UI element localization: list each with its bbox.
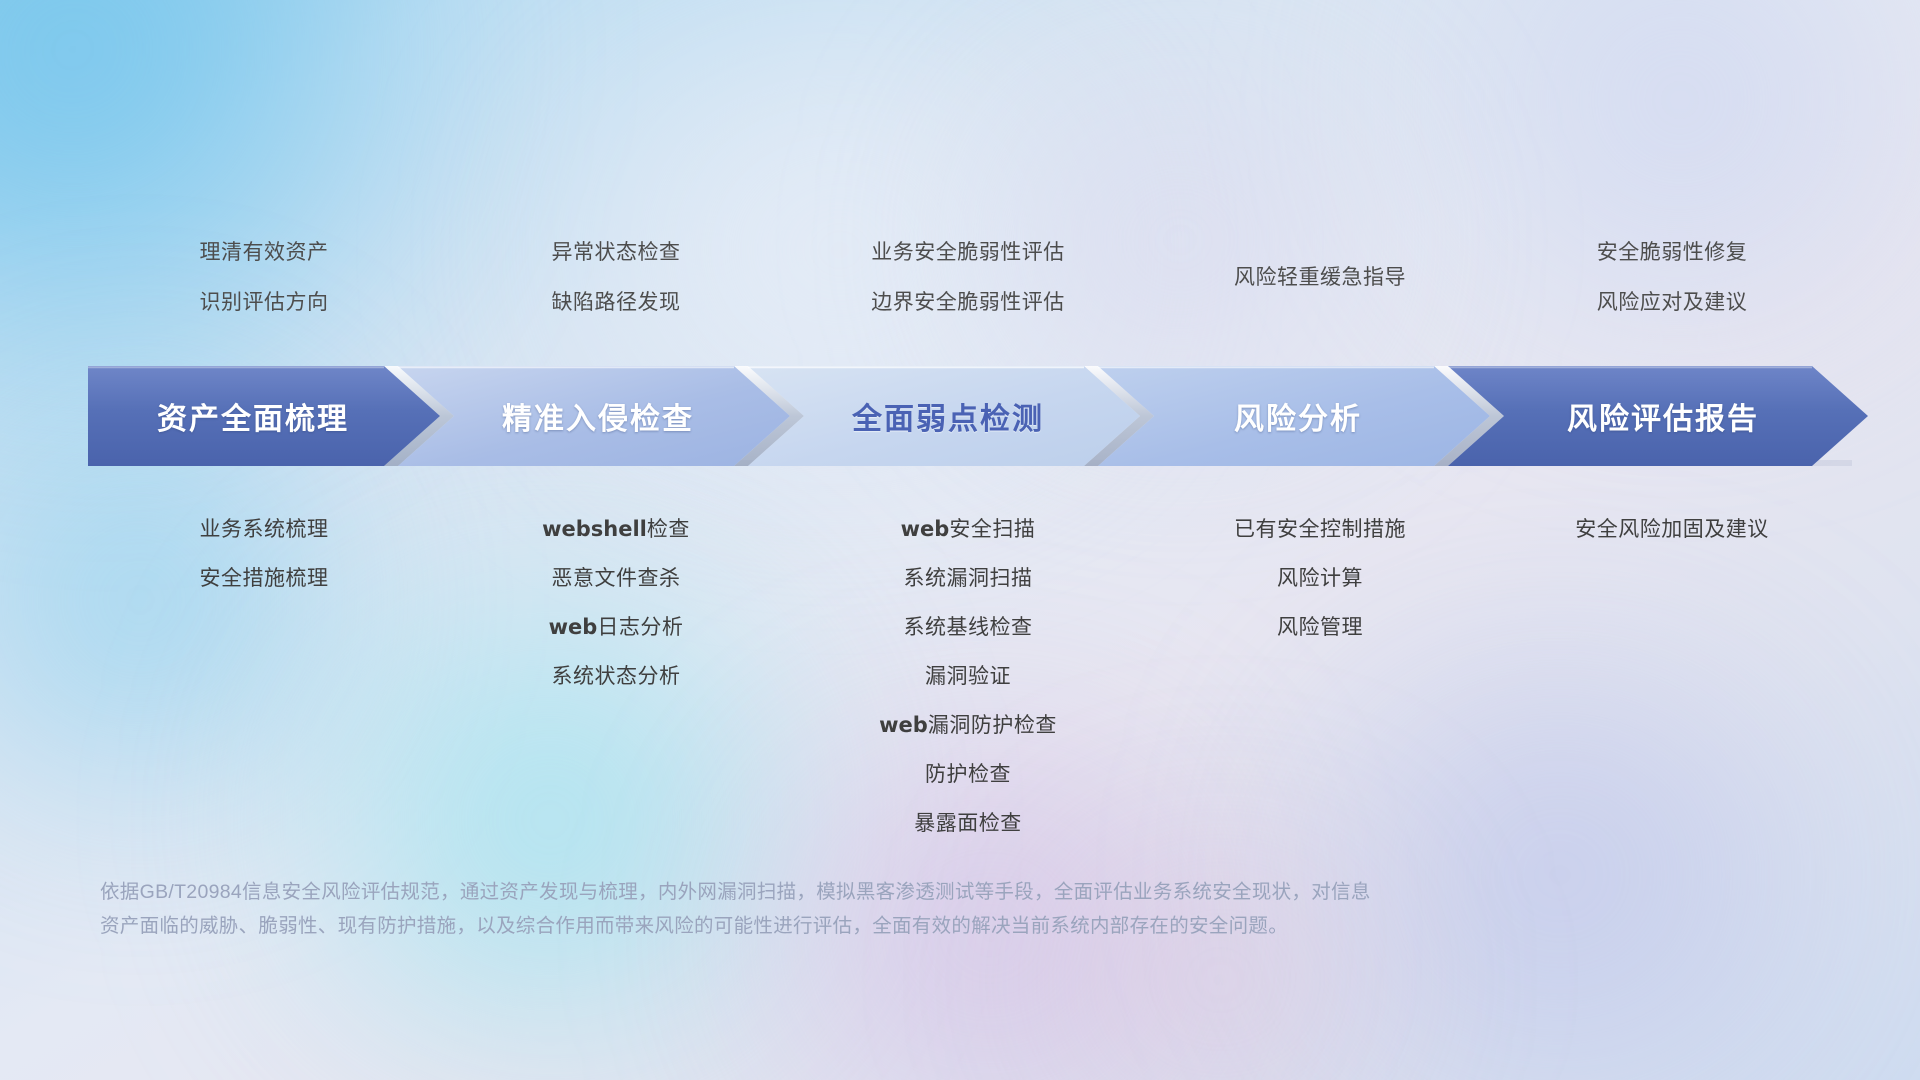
top-item: 风险应对及建议: [1496, 278, 1848, 328]
bottom-item: 风险计算: [1144, 554, 1496, 603]
bottom-item: webshell检查: [440, 505, 792, 554]
top-item: 风险轻重缓急指导: [1144, 228, 1496, 328]
bottom-item-suffix: 漏洞防护检查: [928, 714, 1057, 737]
bottom-item: 系统基线检查: [792, 603, 1144, 652]
stage-title-4[interactable]: 风险分析: [1128, 366, 1468, 466]
bottom-item: 风险管理: [1144, 603, 1496, 652]
bottom-item: 暴露面检查: [792, 799, 1144, 848]
stage-title-5[interactable]: 风险评估报告: [1478, 366, 1848, 466]
process-chevron-band: 资产全面梳理 精准入侵检查 全面弱点检测 风险分析 风险评估报告: [88, 366, 1868, 466]
bottom-item: 系统漏洞扫描: [792, 554, 1144, 603]
bottom-column-stage-1: 业务系统梳理 安全措施梳理: [88, 505, 440, 848]
bottom-item-suffix: 检查: [647, 518, 690, 541]
top-item: 异常状态检查: [440, 228, 792, 278]
bottom-item-suffix: 日志分析: [597, 616, 683, 639]
bottom-item: 防护检查: [792, 750, 1144, 799]
bottom-column-stage-3: web安全扫描 系统漏洞扫描 系统基线检查 漏洞验证 web漏洞防护检查 防护检…: [792, 505, 1144, 848]
stage-title-2[interactable]: 精准入侵检查: [428, 366, 768, 466]
bottom-column-stage-5: 安全风险加固及建议: [1496, 505, 1848, 848]
bottom-column-stage-2: webshell检查 恶意文件查杀 web日志分析 系统状态分析: [440, 505, 792, 848]
top-column-stage-5: 安全脆弱性修复 风险应对及建议: [1496, 228, 1848, 328]
top-item: 边界安全脆弱性评估: [792, 278, 1144, 328]
top-item: 理清有效资产: [88, 228, 440, 278]
bottom-descriptor-row: 业务系统梳理 安全措施梳理 webshell检查 恶意文件查杀 web日志分析 …: [88, 505, 1848, 848]
top-descriptor-row: 理清有效资产 识别评估方向 异常状态检查 缺陷路径发现 业务安全脆弱性评估 边界…: [88, 228, 1848, 328]
bottom-item: 安全风险加固及建议: [1496, 505, 1848, 554]
bottom-item: 恶意文件查杀: [440, 554, 792, 603]
top-item: 安全脆弱性修复: [1496, 228, 1848, 278]
bottom-item: web漏洞防护检查: [792, 701, 1144, 750]
footnote-line-2: 资产面临的威胁、脆弱性、现有防护措施，以及综合作用而带来风险的可能性进行评估，全…: [100, 909, 1620, 943]
top-column-stage-1: 理清有效资产 识别评估方向: [88, 228, 440, 328]
stage-title-1[interactable]: 资产全面梳理: [88, 366, 418, 466]
bottom-item: 漏洞验证: [792, 652, 1144, 701]
footnote-line-1: 依据GB/T20984信息安全风险评估规范，通过资产发现与梳理，内外网漏洞扫描，…: [100, 875, 1620, 909]
top-item: 识别评估方向: [88, 278, 440, 328]
bottom-item-suffix: 安全扫描: [949, 518, 1035, 541]
top-item: 缺陷路径发现: [440, 278, 792, 328]
bottom-item: 业务系统梳理: [88, 505, 440, 554]
bottom-item: web日志分析: [440, 603, 792, 652]
bottom-item: 安全措施梳理: [88, 554, 440, 603]
top-column-stage-3: 业务安全脆弱性评估 边界安全脆弱性评估: [792, 228, 1144, 328]
bottom-item: 系统状态分析: [440, 652, 792, 701]
top-column-stage-2: 异常状态检查 缺陷路径发现: [440, 228, 792, 328]
bottom-item: 已有安全控制措施: [1144, 505, 1496, 554]
bottom-item: web安全扫描: [792, 505, 1144, 554]
top-item: 业务安全脆弱性评估: [792, 228, 1144, 278]
slide-canvas: 理清有效资产 识别评估方向 异常状态检查 缺陷路径发现 业务安全脆弱性评估 边界…: [0, 0, 1920, 1080]
stage-title-3[interactable]: 全面弱点检测: [778, 366, 1118, 466]
bottom-column-stage-4: 已有安全控制措施 风险计算 风险管理: [1144, 505, 1496, 848]
top-column-stage-4: 风险轻重缓急指导: [1144, 228, 1496, 328]
footnote-paragraph: 依据GB/T20984信息安全风险评估规范，通过资产发现与梳理，内外网漏洞扫描，…: [100, 875, 1620, 943]
